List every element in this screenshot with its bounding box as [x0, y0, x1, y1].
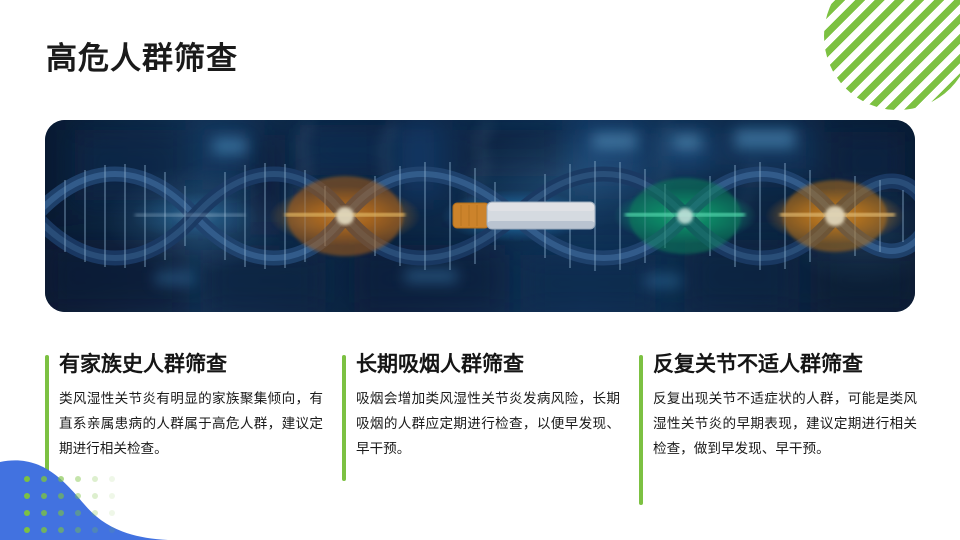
- column-family-history: 有家族史人群筛查 类风湿性关节炎有明显的家族聚集倾向，有直系亲属患病的人群属于高…: [45, 352, 323, 461]
- grid-dot: [24, 510, 30, 516]
- grid-dot: [92, 493, 98, 499]
- grid-dot: [41, 510, 47, 516]
- slide-canvas: 高危人群筛查: [0, 0, 960, 540]
- grid-dot: [92, 510, 98, 516]
- grid-dot: [75, 527, 81, 533]
- green-striped-quarter-circle-decoration: [824, 0, 960, 110]
- grid-dot: [58, 510, 64, 516]
- grid-dot: [58, 476, 64, 482]
- grid-dot: [41, 493, 47, 499]
- grid-dot: [109, 527, 115, 533]
- grid-dot: [109, 493, 115, 499]
- grid-dot: [58, 527, 64, 533]
- grid-dot: [109, 476, 115, 482]
- grid-dot: [92, 476, 98, 482]
- column-heading: 反复关节不适人群筛查: [653, 352, 917, 378]
- diagonal-stripe-pattern: [824, 0, 960, 110]
- page-title: 高危人群筛查: [46, 40, 238, 77]
- grid-dot: [24, 493, 30, 499]
- grid-dot: [24, 476, 30, 482]
- grid-dot: [41, 527, 47, 533]
- column-body-text: 类风湿性关节炎有明显的家族聚集倾向，有直系亲属患病的人群属于高危人群，建议定期进…: [59, 387, 323, 461]
- accent-bar: [639, 355, 643, 505]
- column-body-text: 吸烟会增加类风湿性关节炎发病风险，长期吸烟的人群应定期进行检查，以便早发现、早干…: [356, 387, 620, 461]
- dna-helix-illustration: [45, 120, 915, 312]
- grid-dot: [41, 476, 47, 482]
- grid-dot: [92, 527, 98, 533]
- hero-image: [45, 120, 915, 312]
- column-heading: 有家族史人群筛查: [59, 352, 323, 378]
- grid-dot: [58, 493, 64, 499]
- green-dot-grid-decoration: [24, 476, 144, 534]
- accent-bar: [342, 355, 346, 481]
- accent-bar: [45, 355, 49, 481]
- column-recurrent-joint-discomfort: 反复关节不适人群筛查 反复出现关节不适症状的人群，可能是类风湿性关节炎的早期表现…: [639, 352, 917, 461]
- column-body-text: 反复出现关节不适症状的人群，可能是类风湿性关节炎的早期表现，建议定期进行相关检查…: [653, 387, 917, 461]
- column-heading: 长期吸烟人群筛查: [356, 352, 620, 378]
- column-long-term-smoking: 长期吸烟人群筛查 吸烟会增加类风湿性关节炎发病风险，长期吸烟的人群应定期进行检查…: [342, 352, 620, 461]
- grid-dot: [109, 510, 115, 516]
- grid-dot: [75, 493, 81, 499]
- feature-columns: 有家族史人群筛查 类风湿性关节炎有明显的家族聚集倾向，有直系亲属患病的人群属于高…: [45, 352, 917, 461]
- grid-dot: [75, 476, 81, 482]
- grid-dot: [24, 527, 30, 533]
- grid-dot: [75, 510, 81, 516]
